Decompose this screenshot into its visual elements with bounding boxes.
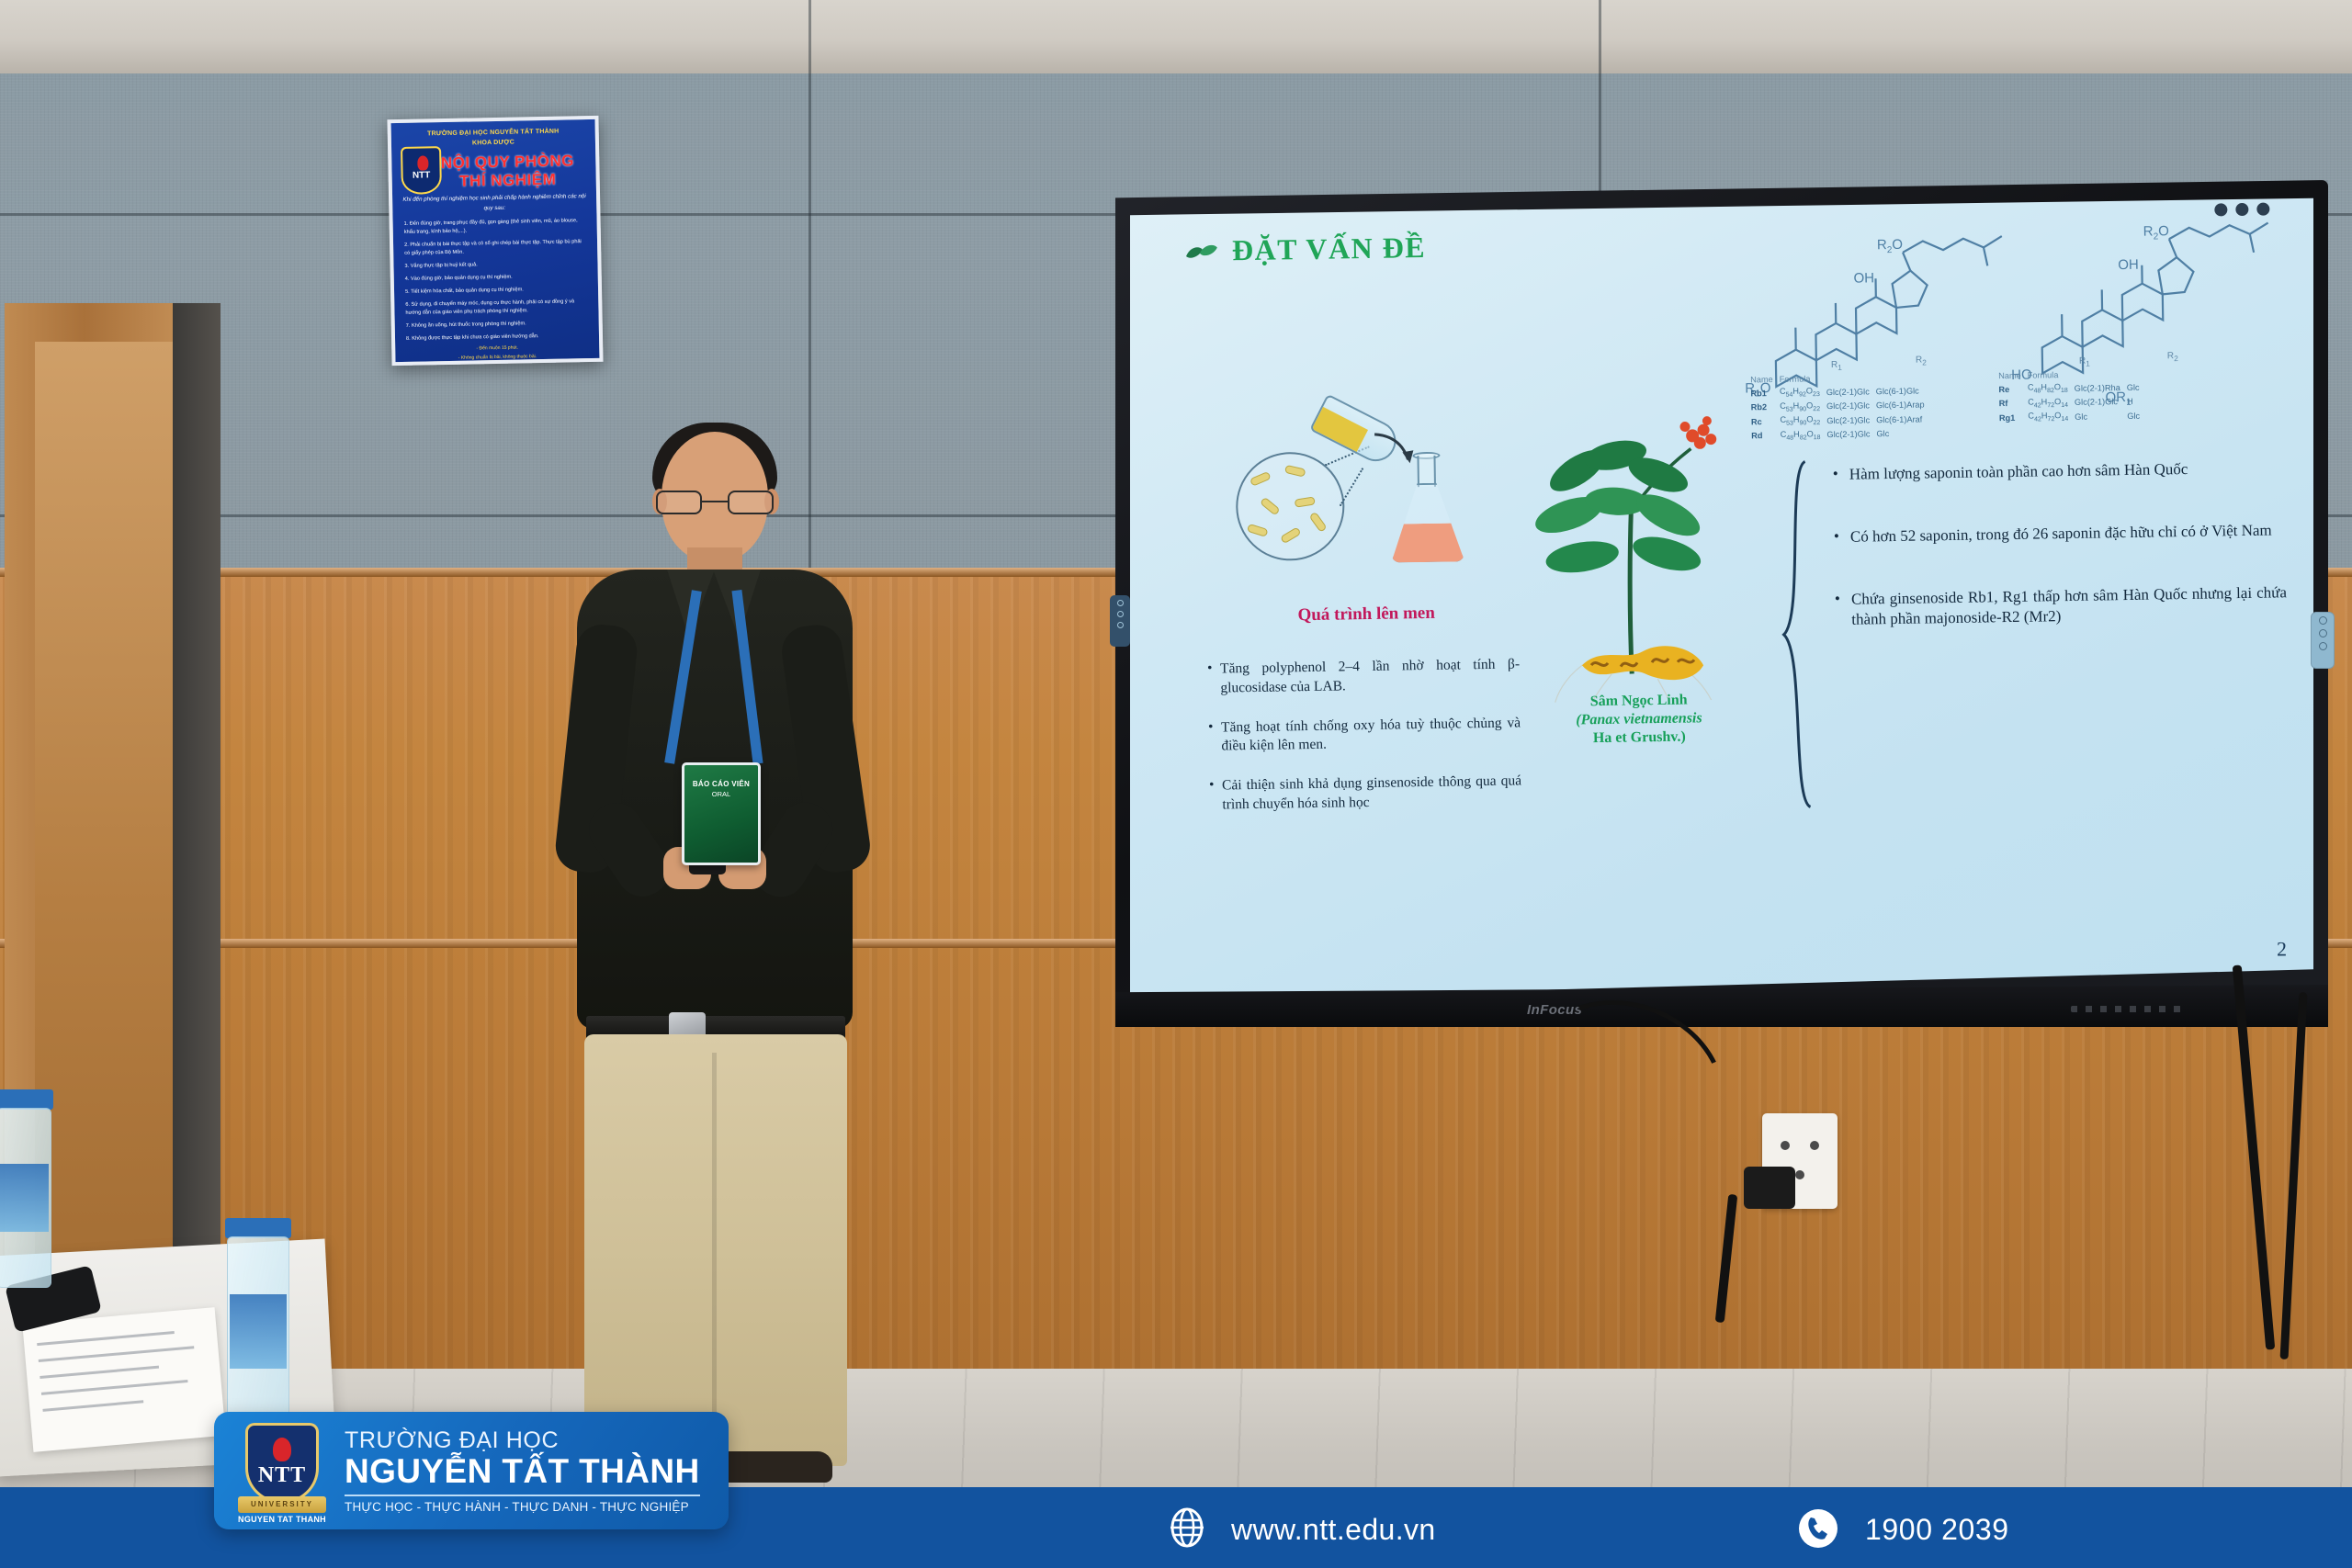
- poster-crest-icon: NTT: [401, 146, 442, 195]
- table-right-r2-header: R2: [2167, 351, 2178, 363]
- phone-number[interactable]: 1900 2039: [1865, 1513, 2009, 1547]
- ginsenoside-table-right: Name Formula Re C48H82O18 Glc(2-1)Rha Gl…: [1998, 368, 2146, 425]
- interactive-display[interactable]: ĐẶT VẤN ĐỀ: [1115, 180, 2328, 1025]
- table-row: Rg1 C42H72O14 Glc Glc: [1999, 409, 2146, 425]
- water-bottle[interactable]: [0, 1089, 53, 1292]
- list-item: Chứa ginsenoside Rb1, Rg1 thấp hơn sâm H…: [1835, 582, 2288, 630]
- university-logo-badge: NTT UNIVERSITY NGUYEN TAT THANH TRƯỜNG Đ…: [214, 1412, 729, 1529]
- table-left-r1-header: R1: [1831, 360, 1842, 372]
- presenter-badge: BÁO CÁO VIÊN ORAL: [682, 762, 761, 865]
- poster-rule: 2. Phải chuẩn bị bài thực tập và có sổ g…: [402, 238, 588, 258]
- poster-rule: 8. Không được thực tập khi chưa có giáo …: [404, 332, 590, 344]
- ginseng-plant-illustration: [1520, 396, 1754, 703]
- display-side-control-buttons[interactable]: [2311, 612, 2335, 669]
- logo-divider: [345, 1495, 700, 1496]
- bacteria-petri-icon: [1235, 451, 1345, 561]
- cell-r1: Glc(2-1)Glc: [1826, 384, 1876, 399]
- ginsenoside-table-left: Name Formula Rb1 C54H92O23 Glc(2-1)Glc G…: [1750, 371, 1931, 443]
- process-label: Quá trình lên men: [1238, 603, 1495, 626]
- logo-line-1: TRƯỜNG ĐẠI HỌC: [345, 1427, 700, 1454]
- cell-r2: Glc(6-1)Arap: [1876, 398, 1931, 413]
- display-screen[interactable]: ĐẶT VẤN ĐỀ: [1130, 197, 2313, 1005]
- cell-name: Rc: [1751, 414, 1781, 429]
- door-panel[interactable]: [35, 342, 173, 1366]
- cell-r2: Glc(6-1)Araf: [1876, 412, 1931, 427]
- badge-type: ORAL: [684, 790, 758, 798]
- cell-r1: Glc(2-1)Glc: [1826, 399, 1876, 413]
- cell-r2: Glc: [2127, 409, 2146, 423]
- cell-r1: Glc(2-1)Rha: [2075, 380, 2127, 396]
- poster-rule: 3. Vắng thực tập bị huỷ kết quả.: [402, 259, 588, 271]
- conference-room-scene: NTT TRƯỜNG ĐẠI HỌC NGUYỄN TẤT THÀNH KHOA…: [0, 0, 2352, 1568]
- poster-rule: 7. Không ăn uống, hút thuốc trong phòng …: [404, 319, 590, 331]
- list-item: Có hơn 52 saponin, trong đó 26 saponin đ…: [1834, 520, 2286, 547]
- cell-name: Re: [1998, 381, 2028, 396]
- slide-number: 2: [2277, 937, 2287, 961]
- printed-handout[interactable]: [22, 1307, 225, 1452]
- cell-formula: C42H72O14: [2028, 395, 2075, 410]
- website-url[interactable]: www.ntt.edu.vn: [1231, 1513, 1436, 1547]
- cell-formula: C48H82O18: [1781, 428, 1827, 443]
- chem-label-oh: OH: [1853, 270, 1874, 286]
- left-bullet-list: Tăng polyphenol 2–4 lần nhờ hoạt tính β-…: [1207, 655, 1522, 835]
- plant-name-latin-1: (Panax vietnamensis: [1576, 710, 1702, 728]
- display-left-control-buttons[interactable]: [1110, 595, 1130, 647]
- poster-rule: 5. Tiết kiệm hóa chất, bảo quản dụng cụ …: [403, 285, 589, 297]
- eyeglasses: [656, 491, 774, 514]
- badge-role: BÁO CÁO VIÊN: [684, 780, 758, 788]
- right-bullet-list: Hàm lượng saponin toàn phần cao hơn sâm …: [1833, 457, 2288, 672]
- cell-name: Rb2: [1751, 400, 1781, 414]
- university-crest-icon: NTT UNIVERSITY NGUYEN TAT THANH: [232, 1419, 332, 1522]
- poster-title: NỘI QUY PHÒNG THÍ NGHIỆM: [428, 152, 587, 191]
- plant-caption: Sâm Ngọc Linh (Panax vietnamensis Ha et …: [1506, 690, 1773, 750]
- chem-label-oh-right: OH: [2118, 257, 2139, 273]
- cell-r1: Glc(2-1)Glc: [1826, 427, 1876, 442]
- table-left-r2-header: R2: [1916, 355, 1927, 367]
- cell-name: Rb1: [1750, 386, 1780, 400]
- cell-formula: C53H90O22: [1780, 413, 1826, 428]
- slide-title: ĐẶT VẤN ĐỀ: [1232, 231, 1427, 267]
- poster-rule: 6. Sử dụng, di chuyển máy móc, dụng cụ t…: [403, 298, 589, 318]
- poster-footnote: - Đến muộn 15 phút.: [404, 344, 590, 353]
- leaf-icon: [1184, 241, 1219, 262]
- slide-title-row: ĐẶT VẤN ĐỀ: [1184, 231, 1427, 268]
- cell-r2: H: [2127, 394, 2146, 409]
- presenter: BÁO CÁO VIÊN ORAL: [560, 432, 864, 1433]
- col-header: Formula: [1780, 373, 1826, 386]
- presentation-slide: ĐẶT VẤN ĐỀ: [1130, 197, 2313, 1005]
- cell-name: Rg1: [1999, 411, 2029, 425]
- table-right-r1-header: R1: [2079, 356, 2090, 368]
- crest-ribbon-text: UNIVERSITY: [238, 1496, 326, 1513]
- chem-label-r2o: R2O: [1877, 237, 1903, 255]
- col-header: Formula: [2028, 369, 2075, 382]
- globe-icon: [1167, 1507, 1207, 1548]
- col-header: Name: [1998, 370, 2028, 382]
- logo-tagline: THỰC HỌC - THỰC HÀNH - THỰC DANH - THỰC …: [345, 1500, 700, 1514]
- cell-r2: Glc(6-1)Glc: [1876, 383, 1931, 399]
- poster-rule: 4. Vào đúng giờ, bảo quản dụng cụ thí ng…: [403, 272, 589, 284]
- cell-name: Rf: [1999, 396, 2029, 411]
- list-item: Tăng hoạt tính chống oxy hóa tuỳ thuộc c…: [1208, 714, 1521, 757]
- door-gap: [173, 303, 220, 1396]
- cell-r1: Glc(2-1)Glc: [2075, 394, 2127, 410]
- plant-name-latin-2: Ha et Grushv.): [1506, 727, 1772, 750]
- cell-r2: Glc: [1876, 426, 1931, 442]
- display-ports: [2071, 1006, 2181, 1012]
- trousers: [584, 1034, 847, 1466]
- cell-r1: Glc: [2075, 409, 2127, 424]
- crest-under-text: NGUYEN TAT THANH: [232, 1515, 332, 1524]
- list-item: Hàm lượng saponin toàn phần cao hơn sâm …: [1833, 457, 2285, 485]
- cell-r1: Glc(2-1)Glc: [1826, 412, 1876, 427]
- poster-intro: Khi đến phòng thí nghiệm học sinh phải c…: [401, 192, 587, 216]
- fermentation-illustration: [1234, 396, 1476, 583]
- crest-letters: NTT: [245, 1463, 319, 1488]
- chem-label-r2o-right: R2O: [2143, 223, 2169, 242]
- col-header: Name: [1750, 374, 1780, 386]
- shoe: [722, 1451, 832, 1483]
- cell-formula: C53H90O22: [1780, 400, 1826, 414]
- lab-rules-poster: NTT TRƯỜNG ĐẠI HỌC NGUYỄN TẤT THÀNH KHOA…: [387, 116, 603, 366]
- cell-formula: C54H92O23: [1780, 385, 1826, 400]
- cell-name: Rd: [1751, 429, 1781, 444]
- cell-formula: C42H72O14: [2028, 410, 2075, 424]
- table-row: Rd C48H82O18 Glc(2-1)Glc Glc: [1751, 426, 1931, 444]
- curly-brace-icon: [1778, 459, 1816, 809]
- logo-line-2: NGUYỄN TẤT THÀNH: [345, 1452, 700, 1491]
- erlenmeyer-flask-icon: [1389, 455, 1464, 562]
- cell-r2: Glc: [2127, 379, 2146, 394]
- water-bottle[interactable]: [225, 1218, 291, 1438]
- list-item: Tăng polyphenol 2–4 lần nhờ hoạt tính β-…: [1207, 655, 1521, 698]
- poster-footnote: - Không chuẩn bị bài, không thuộc bài.: [404, 353, 590, 362]
- poster-rule: 1. Đến đúng giờ, trang phục đầy đủ, gọn …: [402, 217, 588, 237]
- cell-formula: C48H82O18: [2028, 381, 2075, 396]
- list-item: Cải thiện sinh khả dụng ginsenoside thôn…: [1209, 772, 1522, 815]
- ceiling: [0, 0, 2352, 73]
- power-plug[interactable]: [1744, 1167, 1795, 1209]
- phone-icon: [1799, 1509, 1837, 1548]
